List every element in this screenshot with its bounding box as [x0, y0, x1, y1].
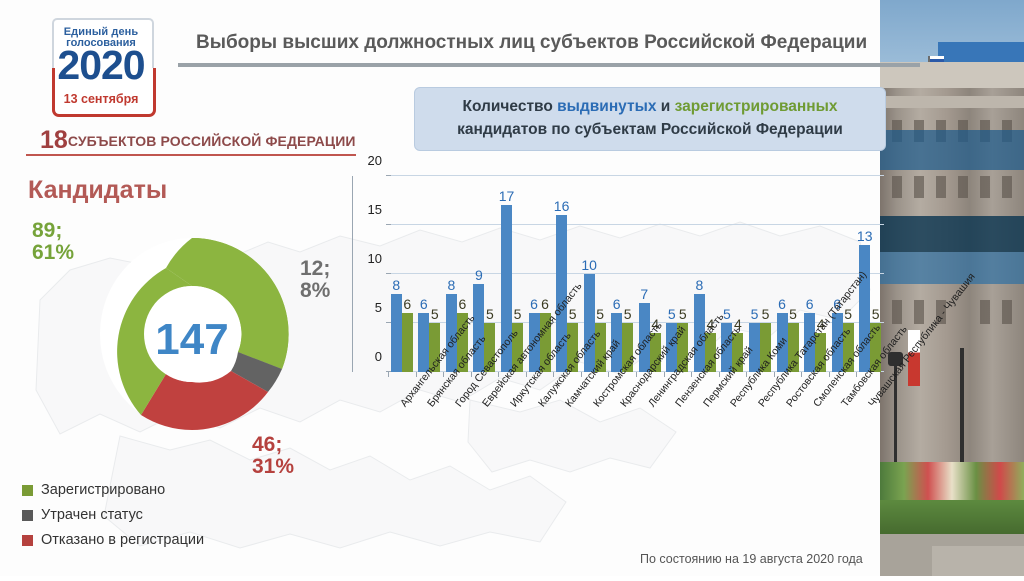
- y-axis-tick-mark: [386, 175, 391, 176]
- legend-swatch-icon: [22, 510, 33, 521]
- donut-center-total: 147: [155, 315, 228, 364]
- bar-value-label: 5: [844, 306, 852, 322]
- x-axis-labels: Архангельская областьБрянская областьГор…: [352, 398, 892, 568]
- y-axis-tick-label: 5: [352, 300, 382, 315]
- bar-value-label: 6: [613, 296, 621, 312]
- x-axis-tick-mark: [801, 372, 802, 377]
- y-axis-tick-label: 10: [352, 251, 382, 266]
- footnote: По состоянию на 19 августа 2020 года: [640, 552, 863, 566]
- candidates-heading: Кандидаты: [28, 176, 167, 205]
- bar-value-label: 5: [596, 306, 604, 322]
- legend-label: Утрачен статус: [41, 507, 143, 523]
- duma-building-photo: [880, 0, 1024, 576]
- chart-title-panel: Количество выдвинутых и зарегистрированн…: [414, 87, 886, 151]
- y-axis-tick-mark: [386, 371, 391, 372]
- chart-title-line-1: Количество выдвинутых и зарегистрированн…: [415, 98, 885, 116]
- x-axis-tick-mark: [553, 372, 554, 377]
- bar-value-label: 5: [668, 306, 676, 322]
- legend-item-2: Отказано в регистрации: [22, 532, 204, 548]
- photo-overlay-band-3: [880, 252, 1024, 284]
- bar-group[interactable]: 86: [388, 176, 416, 372]
- bar-value-label: 17: [499, 188, 515, 204]
- chart-title-line-2: кандидатов по субъектам Российской Федер…: [415, 121, 885, 139]
- bar-value-label: 6: [541, 296, 549, 312]
- bar-value-label: 6: [530, 296, 538, 312]
- subjects-count-text: СУБЪЕКТОВ РОССИЙСКОЙ ФЕДЕРАЦИИ: [68, 133, 356, 149]
- bar-выдвинутых[interactable]: 9: [473, 284, 484, 372]
- donut-label-refused: 46;31%: [252, 434, 294, 478]
- legend-item-1: Утрачен статус: [22, 507, 204, 523]
- bar-value-label: 5: [431, 306, 439, 322]
- candidates-donut-chart: 147: [92, 216, 292, 440]
- bar-value-label: 5: [872, 306, 880, 322]
- photo-overlay-band-1: [880, 130, 1024, 170]
- y-axis-tick-label: 15: [352, 202, 382, 217]
- bar-value-label: 7: [640, 286, 648, 302]
- infographic-root: Единый день голосования 2020 13 сентября…: [0, 0, 1024, 576]
- chart-title-blue: выдвинутых: [557, 98, 656, 115]
- bar-value-label: 5: [514, 306, 522, 322]
- chart-title-green: зарегистрированных: [675, 98, 838, 115]
- donut-label-registered: 89;61%: [32, 220, 74, 264]
- bar-value-label: 9: [475, 267, 483, 283]
- bar-value-label: 5: [679, 306, 687, 322]
- page-title: Выборы высших должностных лиц субъектов …: [196, 32, 896, 54]
- photo-cornice-lower: [880, 96, 1024, 108]
- y-axis-tick-mark: [386, 273, 391, 274]
- bar-value-label: 5: [789, 306, 797, 322]
- x-axis-tick-mark: [388, 372, 389, 377]
- photo-overlay-band-2: [880, 216, 1024, 252]
- bar-value-label: 6: [806, 296, 814, 312]
- bar-выдвинутых[interactable]: 8: [391, 294, 402, 372]
- bar-group[interactable]: 65: [416, 176, 444, 372]
- logo-year: 2020: [38, 45, 164, 86]
- bar-value-label: 6: [778, 296, 786, 312]
- bar-value-label: 5: [486, 306, 494, 322]
- bar-group[interactable]: 55: [746, 176, 774, 372]
- donut-legend: ЗарегистрированоУтрачен статусОтказано в…: [22, 482, 204, 557]
- y-axis-tick-mark: [386, 224, 391, 225]
- bar-value-label: 16: [554, 198, 570, 214]
- x-axis-tick-mark: [608, 372, 609, 377]
- bar-value-label: 5: [762, 306, 770, 322]
- bar-value-label: 6: [420, 296, 428, 312]
- legend-swatch-icon: [22, 535, 33, 546]
- legend-item-0: Зарегистрировано: [22, 482, 204, 498]
- y-axis-tick-label: 0: [352, 349, 382, 364]
- subjects-count-line: 18СУБЪЕКТОВ РОССИЙСКОЙ ФЕДЕРАЦИИ: [40, 126, 370, 155]
- y-axis-tick-mark: [386, 322, 391, 323]
- bar-зарегистрированных[interactable]: 6: [402, 313, 413, 372]
- bar-value-label: 13: [857, 228, 873, 244]
- legend-label: Отказано в регистрации: [41, 532, 204, 548]
- x-axis-tick-mark: [856, 372, 857, 377]
- bar-value-label: 10: [581, 257, 597, 273]
- logo-date: 13 сентября: [38, 92, 164, 106]
- bar-value-label: 8: [392, 277, 400, 293]
- bar-value-label: 8: [695, 277, 703, 293]
- photo-steps: [932, 546, 1024, 576]
- legend-swatch-icon: [22, 485, 33, 496]
- title-divider: [178, 63, 920, 67]
- bar-value-label: 5: [569, 306, 577, 322]
- bar-value-label: 6: [458, 296, 466, 312]
- chart-title-mid: и: [656, 98, 674, 115]
- bar-value-label: 5: [751, 306, 759, 322]
- election-day-logo: Единый день голосования 2020 13 сентября: [38, 12, 164, 116]
- y-axis-tick-label: 20: [352, 153, 382, 168]
- donut-label-lost-status: 12;8%: [300, 258, 330, 302]
- chart-title-pre: Количество: [463, 98, 558, 115]
- subjects-divider: [26, 154, 356, 156]
- bar-value-label: 8: [447, 277, 455, 293]
- subjects-count-number: 18: [40, 126, 68, 154]
- legend-label: Зарегистрировано: [41, 482, 165, 498]
- bar-value-label: 6: [403, 296, 411, 312]
- bar-value-label: 5: [624, 306, 632, 322]
